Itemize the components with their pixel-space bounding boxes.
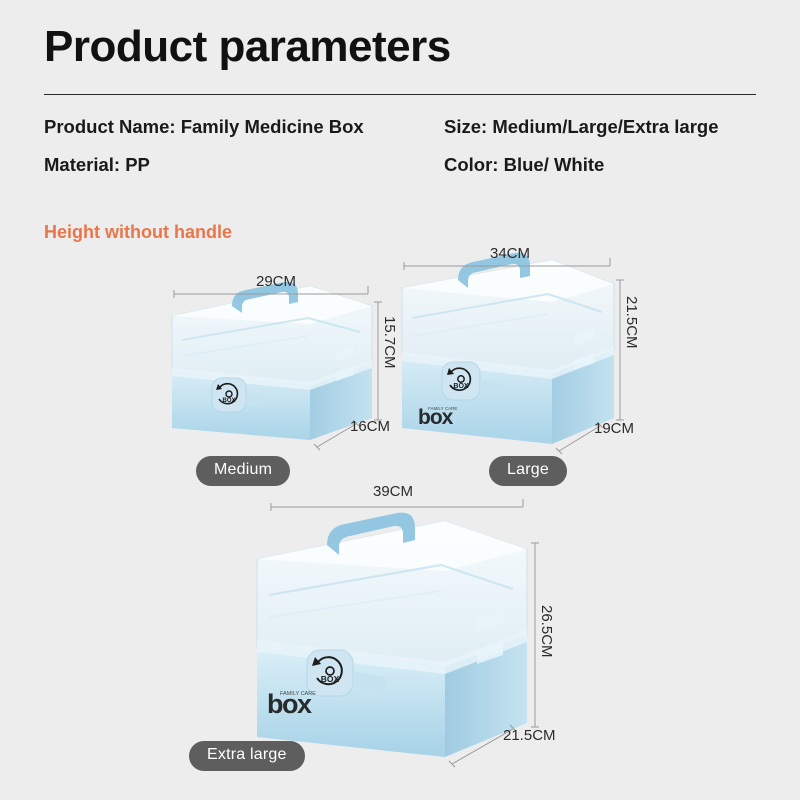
title-divider [44, 94, 756, 95]
spec-row: Material: PP Color: Blue/ White [44, 146, 760, 184]
product-figure-large: BOX box FAMILY CARE 34CM 21.5CM 19CM [392, 240, 642, 490]
dimension-lines-large [392, 240, 642, 490]
dimension-width-large: 34CM [490, 245, 530, 262]
page-title: Product parameters [44, 22, 451, 72]
spec-row: Product Name: Family Medicine Box Size: … [44, 108, 760, 146]
spec-color: Color: Blue/ White [444, 154, 760, 176]
spec-size: Size: Medium/Large/Extra large [444, 116, 760, 138]
dimension-height-large: 21.5CM [623, 296, 640, 349]
dimension-depth-medium: 16CM [350, 418, 390, 435]
size-badge-extra-large: Extra large [189, 741, 305, 771]
spec-material: Material: PP [44, 154, 444, 176]
height-note: Height without handle [44, 222, 232, 243]
size-badge-large: Large [489, 456, 567, 486]
spec-list: Product Name: Family Medicine Box Size: … [44, 108, 760, 184]
dimension-height-extra-large: 26.5CM [538, 605, 555, 658]
dimension-depth-large: 19CM [594, 420, 634, 437]
spec-product-name: Product Name: Family Medicine Box [44, 116, 444, 138]
dimension-width-extra-large: 39CM [373, 483, 413, 500]
dimension-width-medium: 29CM [256, 273, 296, 290]
dimension-depth-extra-large: 21.5CM [503, 727, 556, 744]
size-badge-medium: Medium [196, 456, 290, 486]
